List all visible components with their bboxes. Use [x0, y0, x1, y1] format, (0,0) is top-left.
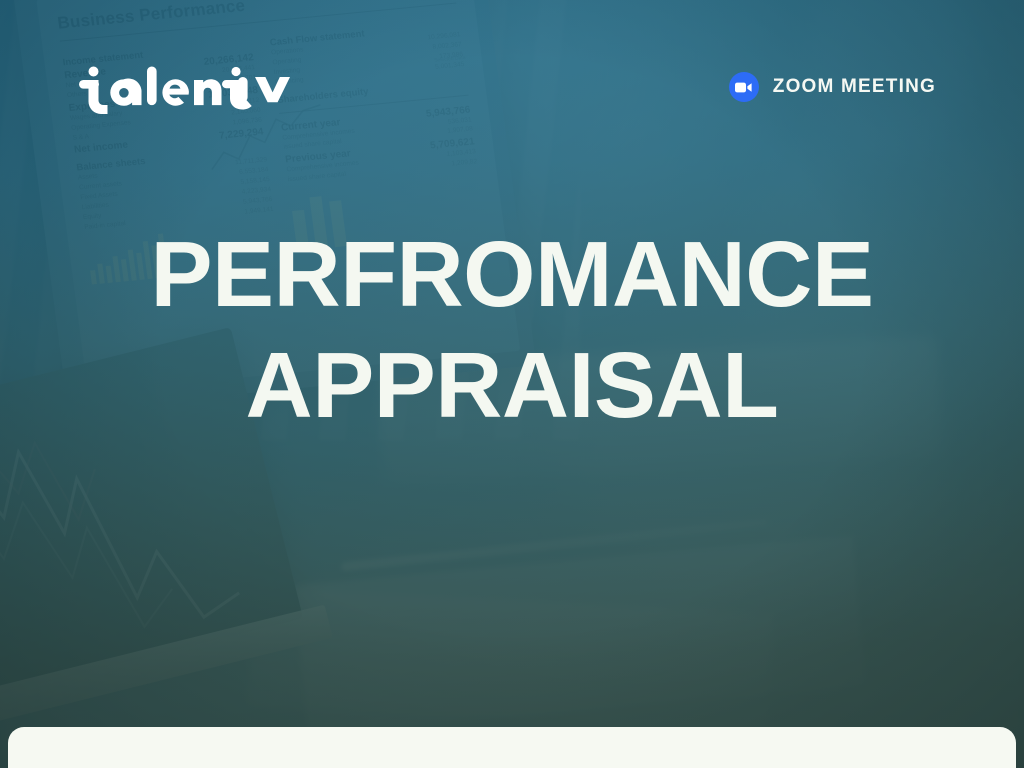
talentiv-iv-icon — [236, 75, 292, 115]
page-title-line-1: PERFROMANCE — [150, 222, 873, 326]
talentiv-logo[interactable] — [76, 66, 292, 118]
zoom-meeting-badge[interactable]: ZOOM MEETING — [729, 72, 936, 102]
presentation-slide: Business Performance Selected Data Incom… — [0, 0, 1024, 768]
talentiv-wordmark-icon — [76, 66, 252, 118]
zoom-video-camera-icon — [729, 72, 759, 102]
page-title-line-2: APPRAISAL — [0, 339, 1024, 432]
video-camera-glyph — [735, 82, 752, 93]
slide-foreground: ZOOM MEETING PERFROMANCE APPRAISAL — [0, 0, 1024, 768]
bottom-content-panel — [8, 727, 1016, 768]
page-title: PERFROMANCE APPRAISAL — [0, 228, 1024, 432]
zoom-meeting-label: ZOOM MEETING — [773, 76, 936, 98]
